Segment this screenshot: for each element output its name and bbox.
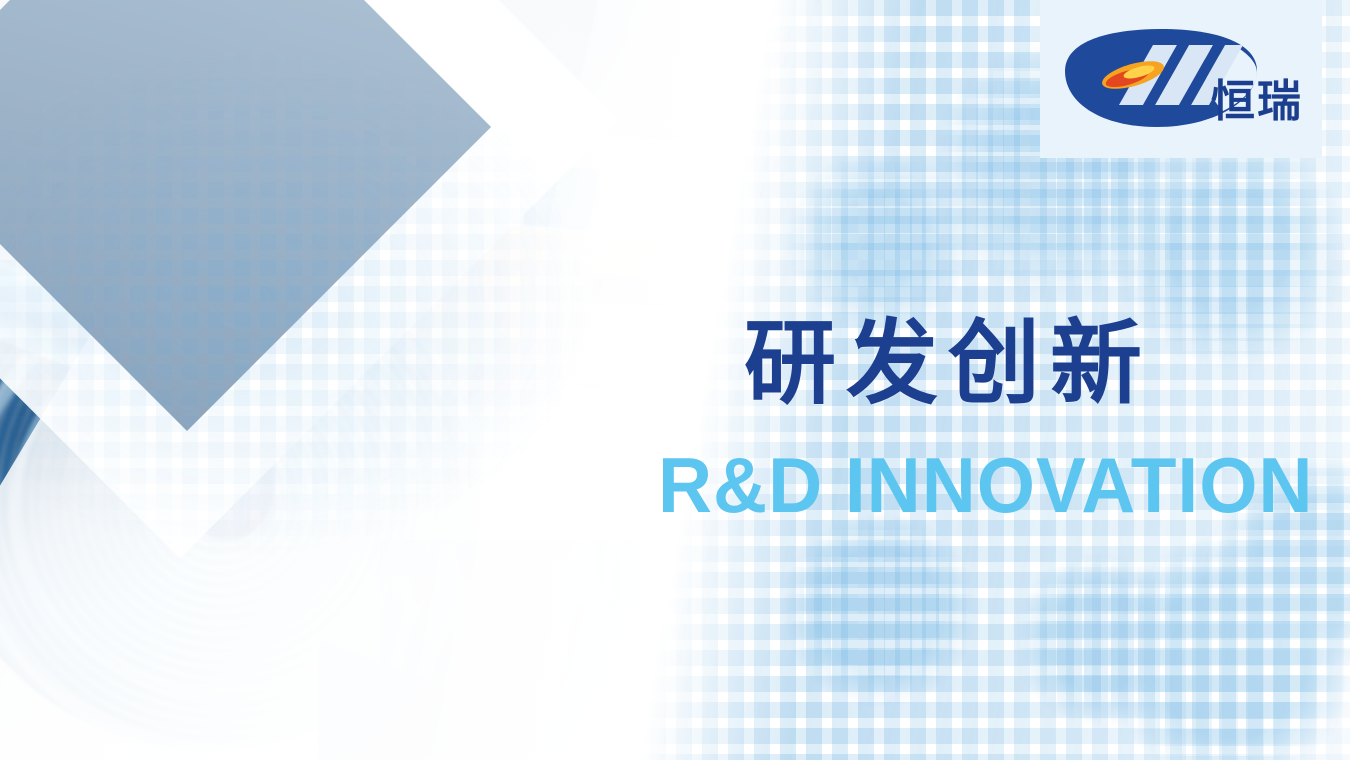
logo-wrapper: 恒瑞 [1057, 20, 1305, 138]
headline-chinese: 研发创新 [744, 318, 1344, 410]
rd-innovation-banner: 研发创新 R&D INNOVATION [0, 0, 1350, 760]
headline-english: R&D INNOVATION [658, 450, 1317, 522]
headline-block: 研发创新 R&D INNOVATION [744, 318, 1344, 522]
logo-company-name: 恒瑞 [1211, 80, 1303, 124]
logo-panel: 恒瑞 [1040, 0, 1322, 158]
